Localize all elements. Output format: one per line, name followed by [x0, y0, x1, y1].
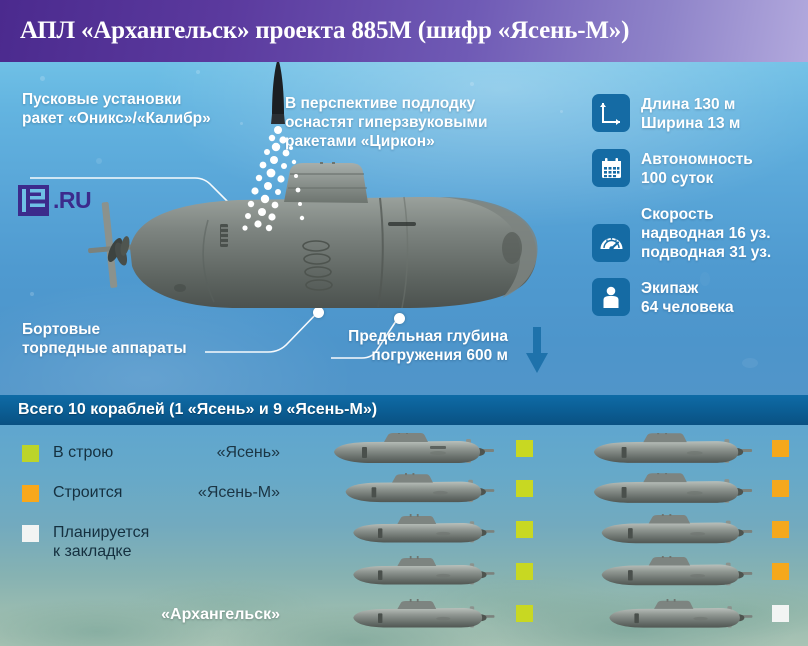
- speedometer-icon: [592, 224, 630, 262]
- spec-dimensions: Длина 130 м Ширина 13 м: [592, 94, 802, 133]
- fleet-sub-right-3: [596, 514, 756, 548]
- spec-crew-label: Экипаж: [641, 279, 734, 298]
- spec-speed-surface: надводная 16 уз.: [641, 224, 771, 243]
- crew-person-icon: [592, 278, 630, 316]
- legend-item-building: Строится: [22, 483, 149, 502]
- legend-label-building: Строится: [53, 483, 122, 502]
- fleet-sub-left-5: [348, 599, 498, 633]
- fleet-sub-right-5: [604, 599, 756, 633]
- fleet-marker-right-4: [772, 563, 789, 580]
- fleet-row-label-2: «Ясень-М»: [150, 484, 280, 502]
- fleet-sub-left-3: [348, 514, 498, 548]
- spec-autonomy: Автономность 100 суток: [592, 149, 802, 188]
- header-bar: АПЛ «Архангельск» проекта 885М (шифр «Яс…: [0, 0, 808, 62]
- fleet-marker-right-2: [772, 480, 789, 497]
- fleet-marker-right-3: [772, 521, 789, 538]
- fleet-sub-right-1: [588, 433, 756, 467]
- spec-crew-value: 64 человека: [641, 298, 734, 317]
- fleet-row-label-5: «Архангельск»: [130, 606, 280, 624]
- fleet-marker-left-5: [516, 605, 533, 622]
- fleet-sub-right-2: [588, 473, 756, 507]
- spec-speed-submerged: подводная 31 уз.: [641, 243, 771, 262]
- fleet-sub-right-4: [596, 556, 756, 590]
- legend-label-planned-1: Планируется: [53, 523, 149, 542]
- spec-speed-label: Скорость: [641, 205, 771, 224]
- fleet-row-label-1: «Ясень»: [170, 444, 280, 462]
- legend-swatch-building: [22, 485, 39, 502]
- annotation-launchers: Пусковые установки ракет «Оникс»/«Калибр…: [22, 90, 211, 128]
- izru-logo-text: .RU: [53, 187, 91, 214]
- spec-autonomy-value: 100 суток: [641, 169, 753, 188]
- fleet-marker-right-1: [772, 440, 789, 457]
- legend-label-in-service: В строю: [53, 443, 113, 462]
- fleet-marker-left-1: [516, 440, 533, 457]
- hero-scene: Пусковые установки ракет «Оникс»/«Калибр…: [0, 62, 808, 395]
- fleet-marker-right-5: [772, 605, 789, 622]
- missile-launch-illustration: [238, 62, 358, 239]
- iz-logo-icon: [18, 185, 49, 216]
- fleet-sub-left-2: [340, 473, 498, 507]
- legend-swatch-planned: [22, 525, 39, 542]
- spec-autonomy-label: Автономность: [641, 150, 753, 169]
- spec-width: Ширина 13 м: [641, 114, 740, 133]
- fleet-sub-left-4: [348, 556, 498, 590]
- legend-item-planned: Планируется к закладке: [22, 523, 149, 561]
- legend-item-in-service: В строю: [22, 443, 149, 462]
- fleet-total-banner: Всего 10 кораблей (1 «Ясень» и 9 «Ясень-…: [0, 395, 808, 425]
- spec-speed: Скорость надводная 16 уз. подводная 31 у…: [592, 204, 802, 262]
- status-legend: В строю Строится Планируется к закладке: [22, 443, 149, 582]
- dimensions-icon: [592, 94, 630, 132]
- page-title: АПЛ «Архангельск» проекта 885М (шифр «Яс…: [20, 17, 629, 45]
- fleet-section: В строю Строится Планируется к закладке …: [0, 425, 808, 646]
- spec-crew: Экипаж 64 человека: [592, 278, 802, 317]
- fleet-sub-left-1: [328, 433, 498, 467]
- fleet-total-text: Всего 10 кораблей (1 «Ясень» и 9 «Ясень-…: [0, 401, 377, 419]
- infographic-poster: АПЛ «Архангельск» проекта 885М (шифр «Яс…: [0, 0, 808, 646]
- spec-length: Длина 130 м: [641, 95, 740, 114]
- fleet-marker-left-2: [516, 480, 533, 497]
- fleet-marker-left-3: [516, 521, 533, 538]
- legend-label-planned-2: к закладке: [53, 542, 149, 561]
- fleet-marker-left-4: [516, 563, 533, 580]
- spec-panel: Длина 130 м Ширина 13 м: [592, 94, 802, 333]
- legend-swatch-in-service: [22, 445, 39, 462]
- izru-logo[interactable]: .RU: [18, 185, 91, 216]
- calendar-icon: [592, 149, 630, 187]
